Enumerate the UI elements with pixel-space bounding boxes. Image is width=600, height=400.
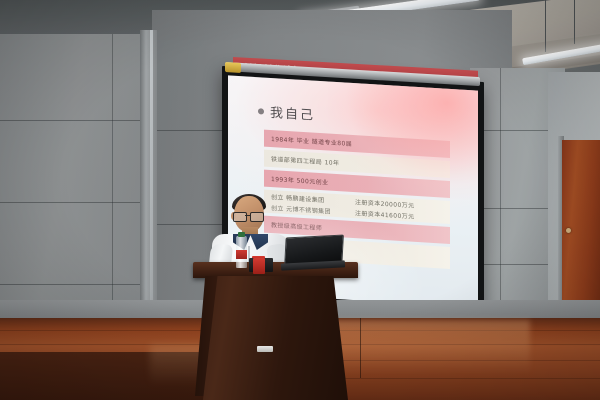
laptop[interactable] — [281, 236, 343, 270]
slide-row-text: 铁道部第四工程局 10年 — [271, 154, 339, 167]
presentation-room-photo: 创新创业论坛 我自己 1984年 毕业 隧道专业80届 铁道部第四工程局 10年 — [0, 0, 600, 400]
slide-title: 我自己 — [258, 101, 315, 123]
bottle-cap — [238, 232, 245, 237]
slide-row-text: 1993年 500元创业 — [271, 174, 328, 187]
screen-roller-cap — [225, 62, 241, 73]
light-hanger-rod-2 — [574, 0, 575, 44]
podium-nameplate — [257, 346, 273, 352]
podium-front-panel — [203, 276, 348, 400]
door-handle-icon[interactable] — [566, 228, 571, 233]
slide-row-text: 1984年 毕业 隧道专业80届 — [271, 134, 352, 148]
bullet-icon — [258, 108, 264, 114]
water-bottle[interactable] — [236, 236, 247, 268]
red-box-item[interactable] — [253, 258, 265, 274]
power-cable — [360, 318, 361, 378]
podium — [193, 262, 358, 400]
light-hanger-rod — [545, 0, 546, 52]
glasses-icon — [233, 212, 263, 220]
bottle-label — [236, 250, 247, 259]
slide-title-text: 我自己 — [270, 102, 315, 124]
